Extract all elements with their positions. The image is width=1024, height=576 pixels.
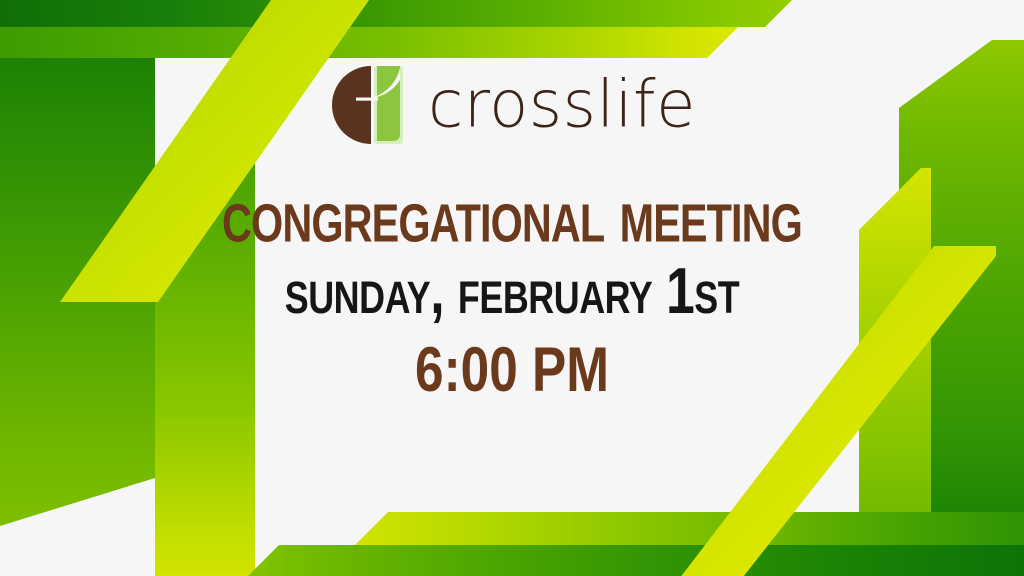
announcement-date: Sunday, February 1st [41,257,983,325]
crosslife-logomark-icon [328,62,414,148]
announcement-slide: crosslife Congregational Meeting Sunday,… [0,0,1024,576]
crosslife-logo: crosslife [328,62,696,148]
slide-content: crosslife Congregational Meeting Sunday,… [0,0,1024,576]
announcement-title: Congregational Meeting [51,177,973,255]
announcement-time: 6:00 PM [26,337,999,402]
announcement-text-block: Congregational Meeting Sunday, February … [0,182,1024,398]
crosslife-wordmark: crosslife [428,72,696,137]
